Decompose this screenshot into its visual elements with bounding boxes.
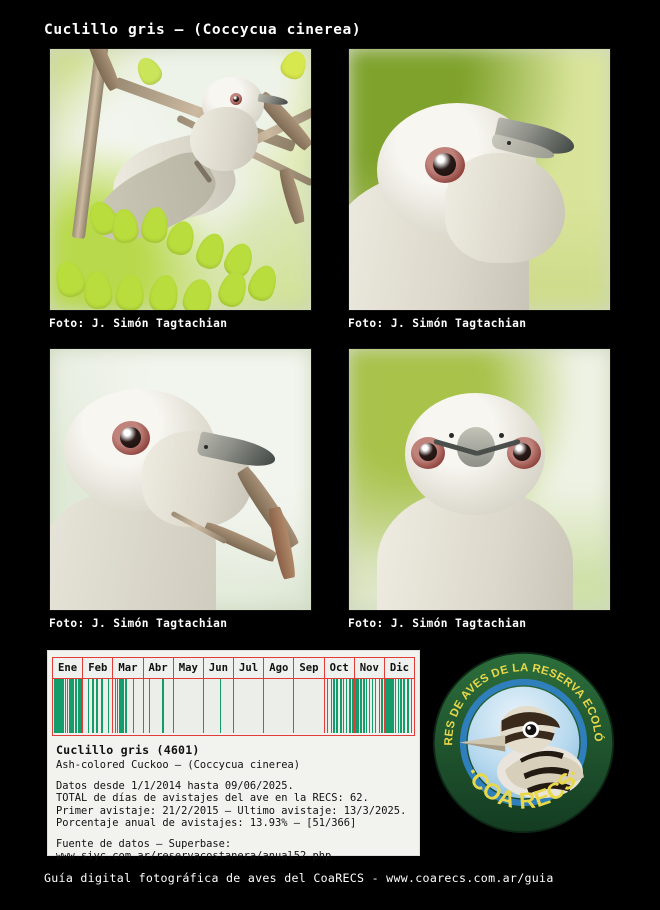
- sighting-bar: [108, 679, 110, 733]
- photo-caption: Foto: J. Simón Tagtachian: [348, 317, 611, 330]
- sighting-bar: [162, 679, 164, 733]
- calendar-month-header: EneFebMarAbrMayJunJulAgoSepOctNovDic: [53, 658, 414, 679]
- calendar-month-column-sep: [294, 679, 324, 733]
- calendar-month-column-mar: [113, 679, 143, 733]
- photo-frontal-head-portrait: [348, 348, 611, 611]
- calendar-month-column-nov: [355, 679, 385, 733]
- sighting-bar: [398, 679, 400, 733]
- photo-cell-2: Foto: J. Simón Tagtachian: [348, 48, 611, 330]
- calendar-month-column-feb: [83, 679, 113, 733]
- photo-head-profile-right-green-background: [348, 48, 611, 311]
- photo-4-artwork: [349, 349, 610, 610]
- calendar-month-label-ene: Ene: [53, 658, 83, 678]
- calendar-month-column-abr: [144, 679, 174, 733]
- sighting-bar: [340, 679, 342, 733]
- sighting-bar: [331, 679, 333, 733]
- sighting-bar: [369, 679, 371, 733]
- sighting-bar: [372, 679, 374, 733]
- sighting-bar: [395, 679, 397, 733]
- calendar-month-column-ene: [53, 679, 83, 733]
- photo-grid: Foto: J. Simón Tagtachian Foto: J. Simón…: [49, 48, 611, 611]
- photo-caption: Foto: J. Simón Tagtachian: [49, 617, 312, 630]
- sighting-bar: [72, 679, 74, 733]
- calendar-bars-area: [53, 679, 414, 733]
- sighting-bar: [336, 679, 338, 733]
- species-name-es: Cuclillo gris (4601): [56, 743, 419, 757]
- annual-percentage-line: Porcentaje anual de avistajes: 13.93% — …: [56, 817, 419, 829]
- calendar-month-column-may: [174, 679, 204, 733]
- sighting-bar: [403, 679, 405, 733]
- calendar-month-label-dic: Dic: [385, 658, 414, 678]
- calendar-month-column-dic: [385, 679, 414, 733]
- sighting-bar: [366, 679, 368, 733]
- coarecs-logo[interactable]: CLUB DE OBSERVADORES DE AVES DE LA RESER…: [432, 651, 615, 834]
- sighting-bar: [375, 679, 377, 733]
- sighting-bar: [381, 679, 383, 733]
- info-spacer: [56, 830, 419, 838]
- sighting-bar: [133, 679, 135, 733]
- sighting-bar: [88, 679, 90, 733]
- calendar-month-label-nov: Nov: [355, 658, 385, 678]
- species-info-block: Cuclillo gris (4601) Ash-colored Cuckoo …: [48, 736, 419, 862]
- page-root: Cuclillo gris — (Coccycua cinerea): [0, 0, 660, 910]
- total-days-line: TOTAL de días de avistajes del ave en la…: [56, 792, 419, 804]
- sighting-bar: [96, 679, 98, 733]
- calendar-month-label-jul: Jul: [234, 658, 264, 678]
- photo-cell-1: Foto: J. Simón Tagtachian: [49, 48, 312, 330]
- sightings-calendar-chart: EneFebMarAbrMayJunJulAgoSepOctNovDic: [52, 657, 415, 736]
- sighting-bar: [327, 679, 329, 733]
- sighting-bar: [352, 679, 354, 733]
- sighting-bar: [411, 679, 413, 733]
- species-name-en: Ash-colored Cuckoo — (Coccycua cinerea): [56, 759, 419, 771]
- source-label: Fuente de datos — Superbase:: [56, 838, 419, 850]
- sighting-bar: [149, 679, 151, 733]
- calendar-month-label-ago: Ago: [264, 658, 294, 678]
- sighting-bar: [333, 679, 335, 733]
- photo-caption: Foto: J. Simón Tagtachian: [49, 317, 312, 330]
- photo-perched-bird-in-foliage: [49, 48, 312, 311]
- sighting-bar: [125, 679, 127, 733]
- photo-caption: Foto: J. Simón Tagtachian: [348, 617, 611, 630]
- photo-2-artwork: [349, 49, 610, 310]
- sighting-bar: [360, 679, 362, 733]
- photo-head-profile-right-pale-background: [49, 348, 312, 611]
- calendar-month-column-jul: [234, 679, 264, 733]
- calendar-month-label-feb: Feb: [83, 658, 113, 678]
- sighting-bar: [343, 679, 345, 733]
- sighting-bar: [357, 679, 359, 733]
- footer-text: Guía digital fotográfica de aves del Coa…: [44, 871, 554, 885]
- calendar-month-label-oct: Oct: [325, 658, 355, 678]
- photo-1-artwork: [50, 49, 311, 310]
- calendar-month-label-may: May: [174, 658, 204, 678]
- calendar-month-column-ago: [264, 679, 294, 733]
- coarecs-logo-icon: CLUB DE OBSERVADORES DE AVES DE LA RESER…: [432, 651, 615, 834]
- calendar-month-label-abr: Abr: [144, 658, 174, 678]
- page-title: Cuclillo gris — (Coccycua cinerea): [44, 22, 361, 38]
- species-data-panel: EneFebMarAbrMayJunJulAgoSepOctNovDic Cuc…: [47, 650, 420, 856]
- calendar-month-column-oct: [325, 679, 355, 733]
- first-last-sighting-line: Primer avistaje: 21/2/2015 — Ultimo avis…: [56, 805, 419, 817]
- source-url[interactable]: www.siyc.com.ar/reservacostanera/anual52…: [56, 850, 419, 862]
- calendar-month-label-jun: Jun: [204, 658, 234, 678]
- sighting-bar: [407, 679, 409, 733]
- sighting-bar: [400, 679, 402, 733]
- sighting-bar: [75, 679, 77, 733]
- sighting-bar: [122, 679, 124, 733]
- calendar-month-label-mar: Mar: [113, 658, 143, 678]
- sighting-bar: [346, 679, 348, 733]
- sighting-bar: [101, 679, 103, 733]
- sighting-bar: [220, 679, 222, 733]
- sighting-bar: [81, 679, 83, 733]
- data-range-line: Datos desde 1/1/2014 hasta 09/06/2025.: [56, 780, 419, 792]
- photo-3-artwork: [50, 349, 311, 610]
- photo-cell-3: Foto: J. Simón Tagtachian: [49, 348, 312, 630]
- photo-cell-4: Foto: J. Simón Tagtachian: [348, 348, 611, 630]
- sighting-bar: [379, 679, 381, 733]
- calendar-month-column-jun: [204, 679, 234, 733]
- calendar-month-label-sep: Sep: [294, 658, 324, 678]
- sighting-bar: [92, 679, 94, 733]
- sighting-bar: [363, 679, 365, 733]
- sighting-bar: [349, 679, 351, 733]
